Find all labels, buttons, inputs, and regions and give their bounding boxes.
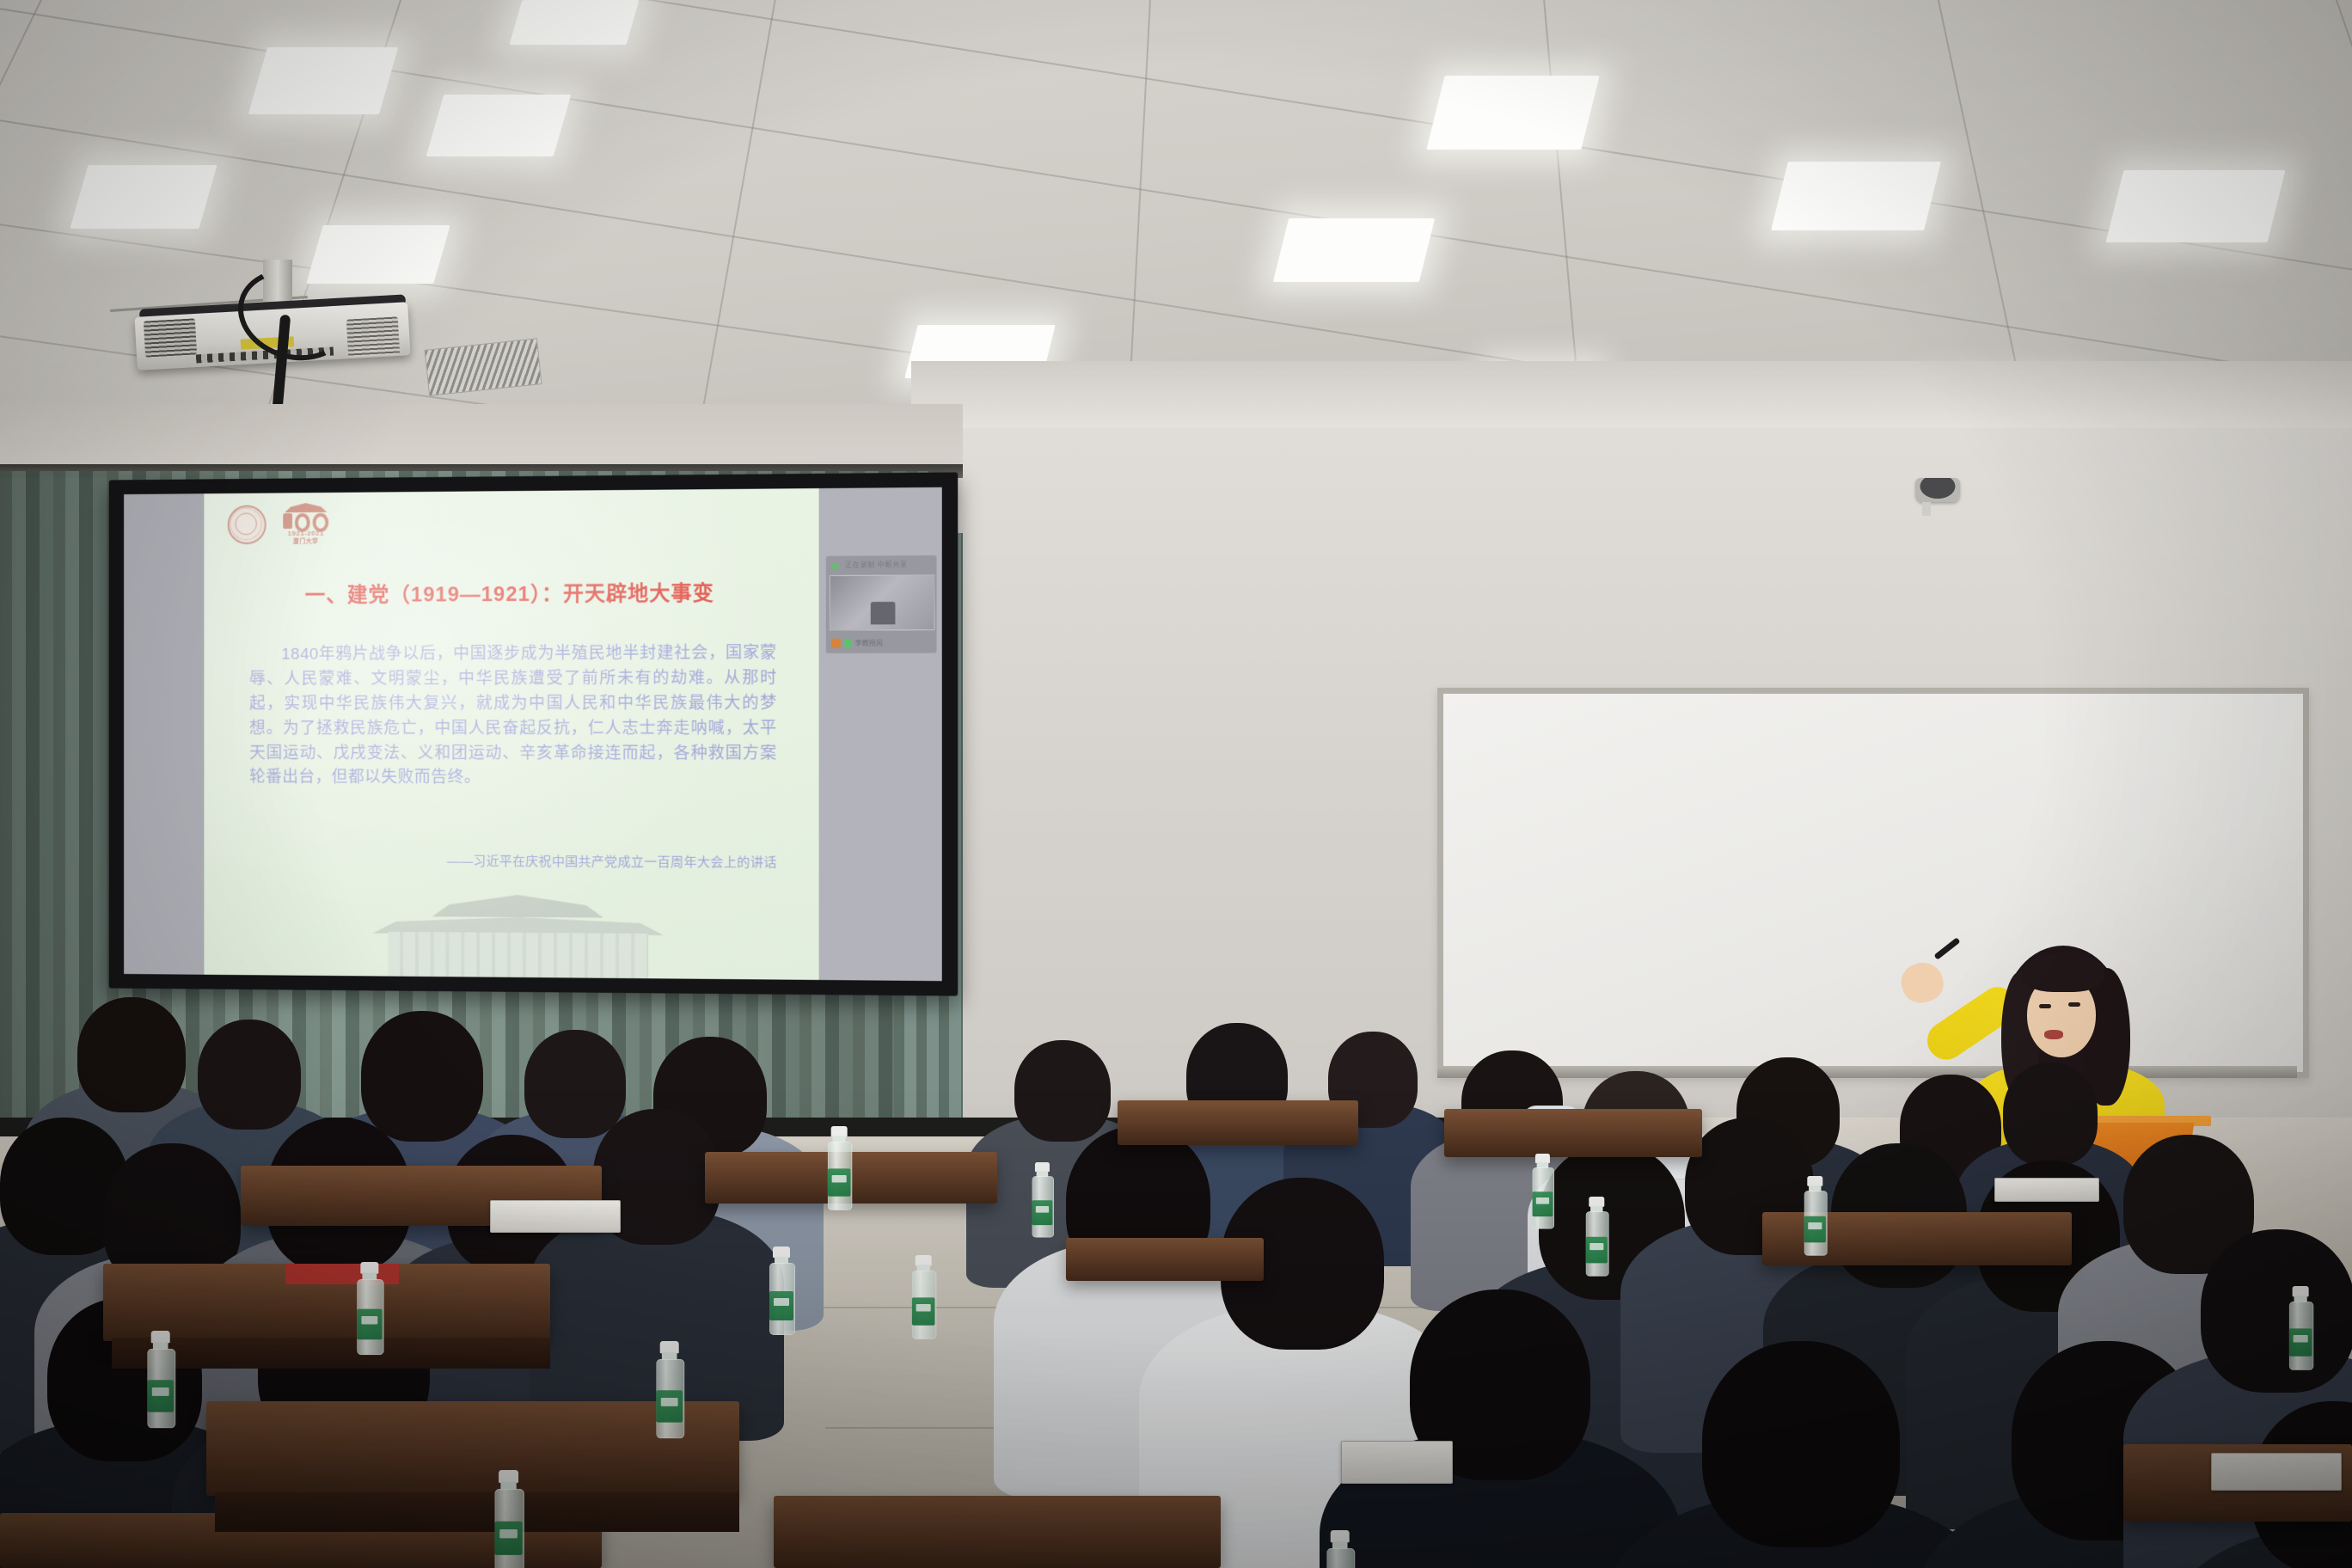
projector-vent-left	[144, 318, 197, 357]
ceiling-light-panel	[1273, 218, 1435, 282]
logo-university-label: 厦门大学	[278, 537, 334, 546]
participant-name: 李教授风	[854, 638, 883, 647]
slide-body-text: 1840年鸦片战争以后，中国逐步成为半殖民地半封建社会，国家蒙辱、人民蒙难、文明…	[249, 641, 777, 792]
logo-year-label: 1921-2021	[278, 530, 334, 537]
lecture-hall-photo: 正在录制 中断共享 李教授风	[0, 0, 2352, 1568]
wall-speaker-bracket	[1922, 502, 1931, 516]
avatar	[831, 638, 841, 647]
projection-surface: 正在录制 中断共享 李教授风	[124, 487, 942, 981]
recording-label: 正在录制 中断共享	[845, 560, 907, 570]
wall-soffit	[911, 361, 2352, 428]
ceiling-light-panel	[426, 95, 572, 156]
name-card	[2211, 1453, 2342, 1491]
projection-screen: 正在录制 中断共享 李教授风	[109, 472, 959, 995]
desk-row	[774, 1496, 1221, 1568]
ceiling-light-panel	[248, 47, 398, 114]
ceiling-light-panel	[2106, 170, 2286, 242]
presentation-slide: 1921-2021 厦门大学 一、建党（1919—1921）：开天辟地大事变 1…	[204, 488, 818, 980]
ceiling-light-panel	[1771, 162, 1941, 230]
slide-title: 一、建党（1919—1921）：开天辟地大事变	[204, 575, 818, 609]
ceiling-light-panel	[70, 165, 217, 229]
desk-front-panel	[215, 1492, 739, 1532]
slide-paragraph: 1840年鸦片战争以后，中国逐步成为半殖民地半封建社会，国家蒙辱、人民蒙难、文明…	[249, 641, 777, 792]
projector-vent-right	[346, 316, 400, 357]
desk-row	[1444, 1109, 1702, 1157]
name-card	[1994, 1178, 2099, 1202]
slide-attribution: ——习近平在庆祝中国共产党成立一百周年大会上的讲话	[249, 851, 777, 872]
name-card	[1341, 1441, 1453, 1484]
microphone-icon	[844, 638, 851, 647]
logo-roof-shape	[285, 503, 327, 512]
centennial-logo-icon: 1921-2021 厦门大学	[278, 503, 334, 546]
lecturer-fringe	[2022, 952, 2104, 992]
desk-row	[1066, 1238, 1264, 1281]
recording-indicator-icon	[832, 564, 838, 570]
ceiling-light-panel	[1426, 76, 1599, 150]
letterbox-band-left	[124, 493, 204, 974]
participant-bar: 李教授风	[830, 635, 935, 650]
lecturer-mouth	[2044, 1030, 2063, 1039]
video-conference-overlay[interactable]: 正在录制 中断共享 李教授风	[826, 555, 937, 653]
desk-front-panel	[112, 1338, 550, 1369]
ceiling-light-panel	[510, 0, 640, 45]
campus-building-watermark	[339, 894, 699, 979]
logo-digits	[283, 513, 328, 529]
whiteboard	[1437, 688, 2309, 1078]
desk-row	[1118, 1100, 1358, 1145]
wall-speaker-icon	[1915, 478, 1960, 502]
ceiling-light-panel	[306, 225, 450, 284]
video-preview-subject	[871, 602, 896, 624]
letterbox-band-right: 正在录制 中断共享 李教授风	[819, 487, 942, 981]
self-video-preview	[830, 574, 935, 630]
whiteboard-marker-tray	[1437, 1066, 2297, 1078]
university-seal-icon	[228, 505, 266, 544]
name-card	[490, 1200, 621, 1233]
